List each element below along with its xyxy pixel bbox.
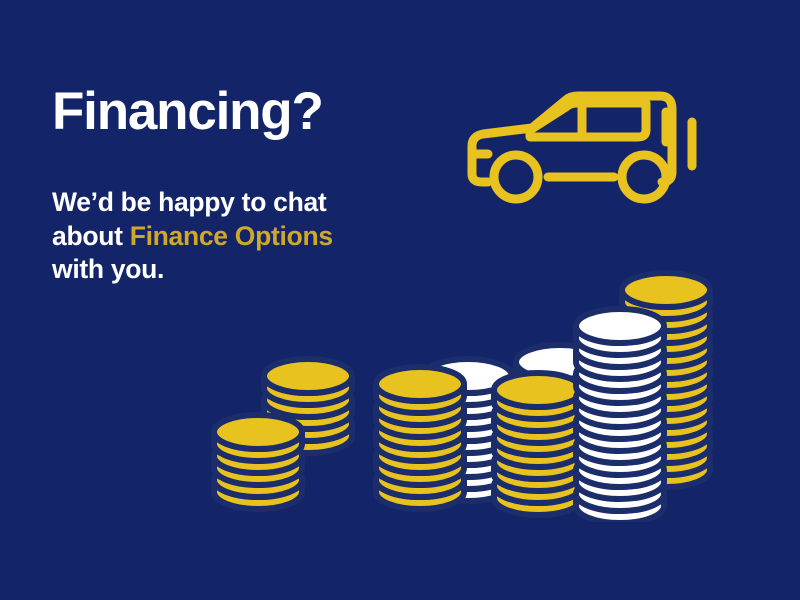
suv-car-icon — [448, 84, 716, 214]
rear-wheel-icon — [622, 155, 666, 199]
body-line-2-prefix: about — [52, 221, 130, 251]
front-wheel-icon — [494, 155, 538, 199]
coin-group-large — [494, 273, 710, 522]
small-front-stack — [214, 415, 302, 509]
coin-stacks-icon — [180, 262, 740, 522]
financing-promo-slide: Financing? We’d be happy to chat about F… — [0, 0, 800, 600]
page-title: Financing? — [52, 84, 323, 140]
body-line-2: about Finance Options — [52, 220, 382, 254]
medium-front-stack — [376, 367, 464, 509]
large-left-stack — [494, 373, 582, 515]
coin-group-small — [214, 359, 352, 509]
large-middle-stack — [576, 309, 664, 522]
body-line-1: We’d be happy to chat — [52, 186, 382, 220]
finance-options-highlight: Finance Options — [130, 221, 333, 251]
